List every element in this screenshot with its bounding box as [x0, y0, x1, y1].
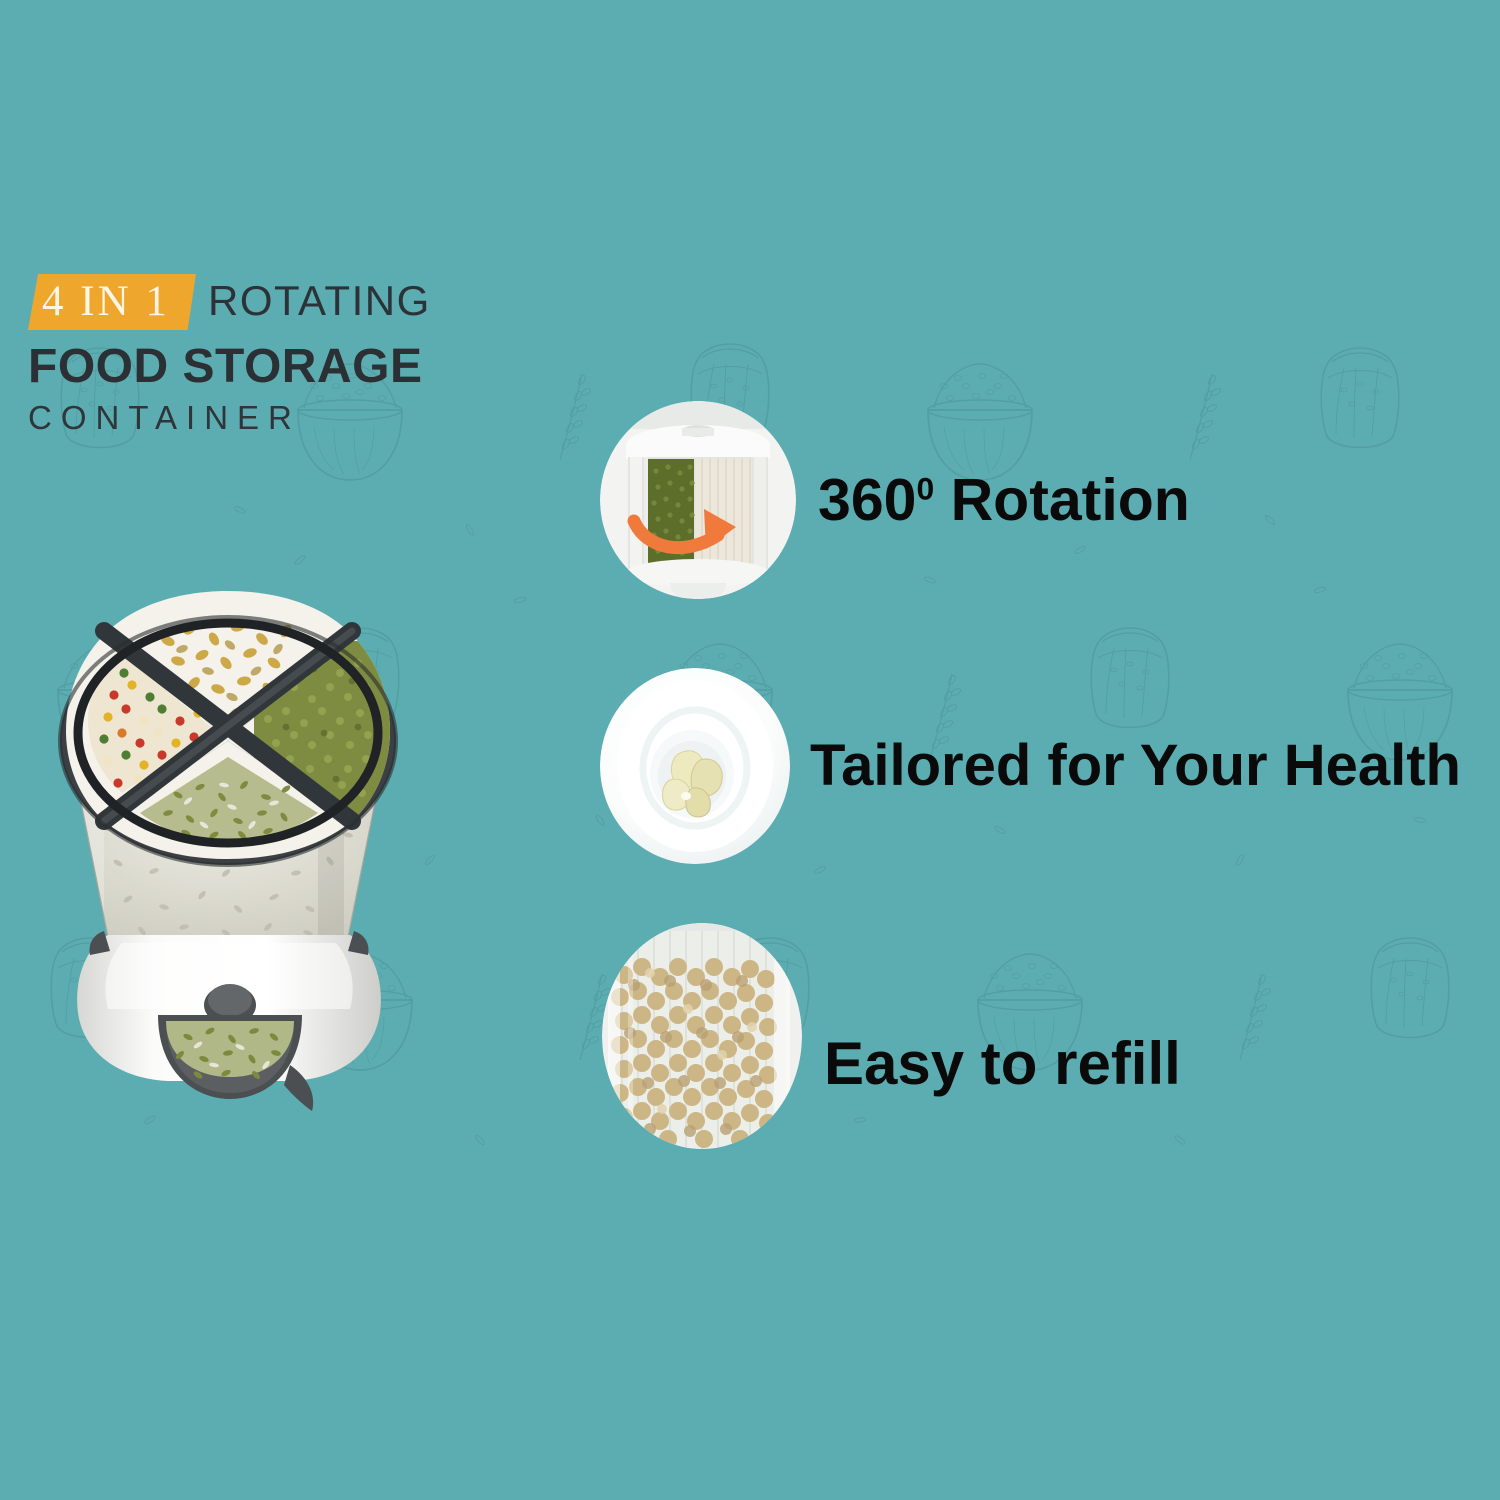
feature-label-rotation: 3600 Rotation [818, 469, 1190, 531]
container-base [77, 931, 381, 1111]
headline-line-1: 4 IN 1 ROTATING [28, 272, 548, 334]
garlic-bowl-photo [600, 668, 790, 864]
rotation-word: Rotation [934, 467, 1190, 533]
container-label: CONTAINER [28, 398, 548, 438]
feature-row-refill: Easy to refill [602, 922, 1181, 1150]
feature-label-refill: Easy to refill [824, 1033, 1181, 1095]
product-infographic: 4 IN 1 ROTATING FOOD STORAGE CONTAINER [0, 0, 1500, 1500]
food-storage-label: FOOD STORAGE [28, 340, 548, 394]
chickpeas-refill-photo [602, 923, 802, 1149]
four-in-one-label: 4 IN 1 [42, 276, 170, 328]
feature-row-health: Tailored for Your Health [600, 668, 1461, 864]
hero-product-image [18, 545, 438, 1115]
feature-label-health: Tailored for Your Health [810, 735, 1461, 797]
rotation-degrees-value: 360 [818, 467, 916, 533]
rotating-label: ROTATING [208, 274, 431, 328]
feature-row-rotation: 3600 Rotation [600, 400, 1190, 600]
rotating-container-photo [600, 401, 796, 599]
degree-symbol: 0 [916, 470, 934, 506]
compartments [48, 585, 408, 865]
headline-block: 4 IN 1 ROTATING FOOD STORAGE CONTAINER [28, 272, 548, 438]
